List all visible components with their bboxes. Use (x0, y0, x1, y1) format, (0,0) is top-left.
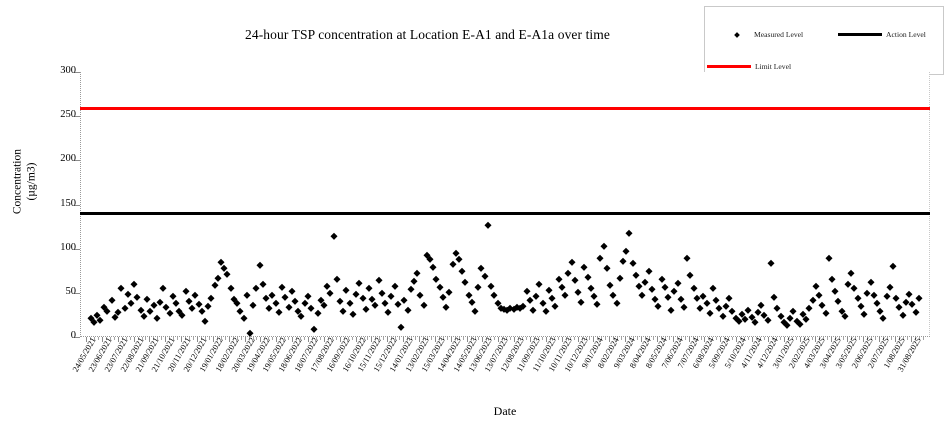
legend-label-action-level: Action Level (886, 30, 926, 39)
x-tick-minor (510, 337, 511, 340)
x-tick-minor (542, 337, 543, 340)
y-tick-label-250: 250 (16, 109, 76, 120)
x-tick-minor (209, 337, 210, 340)
x-axis-label: Date (80, 404, 930, 419)
x-tick-minor (621, 337, 622, 340)
plot-right-border (929, 72, 930, 337)
line-marker-icon-black (838, 33, 882, 36)
x-tick-minor (336, 337, 337, 340)
x-tick-minor (320, 337, 321, 340)
x-tick-minor (843, 337, 844, 340)
legend-label-limit-level: Limit Level (755, 62, 791, 71)
x-tick-minor (415, 337, 416, 340)
y-axis-line (80, 72, 81, 337)
x-tick-minor (447, 337, 448, 340)
x-tick-minor (780, 337, 781, 340)
line-marker-icon-red (707, 65, 751, 68)
y-tick-label-100: 100 (16, 242, 76, 253)
chart-legend: Measured Level Action Level Limit Level (704, 6, 944, 75)
limit-level-line (80, 107, 930, 110)
x-tick-minor (669, 337, 670, 340)
action-level-line (80, 212, 930, 215)
diamond-marker-icon (734, 32, 740, 38)
x-tick-minor (399, 337, 400, 340)
x-tick-minor (288, 337, 289, 340)
x-tick-minor (764, 337, 765, 340)
y-axis-label: Concentration (µg/m3) (11, 112, 38, 252)
x-tick-minor (193, 337, 194, 340)
legend-item-action-level[interactable]: Action Level (838, 30, 926, 39)
x-tick-minor (891, 337, 892, 340)
x-tick-minor (98, 337, 99, 340)
legend-item-limit-level[interactable]: Limit Level (707, 62, 791, 71)
x-tick-minor (859, 337, 860, 340)
plot-area: 050100150200250300 24/05/202123/06/20212… (80, 72, 930, 337)
chart-root: 24-hour TSP concentration at Location E-… (0, 0, 946, 437)
x-tick-minor (225, 337, 226, 340)
x-tick-minor (653, 337, 654, 340)
legend-label-measured-level: Measured Level (754, 30, 803, 39)
x-tick-minor (114, 337, 115, 340)
y-axis-label-line2: (µg/m3) (25, 163, 37, 201)
x-tick-minor (383, 337, 384, 340)
x-tick-minor (526, 337, 527, 340)
x-tick-minor (272, 337, 273, 340)
x-tick-minor (494, 337, 495, 340)
x-tick-minor (716, 337, 717, 340)
x-tick-minor (827, 337, 828, 340)
x-tick-minor (431, 337, 432, 340)
y-tick-label-50: 50 (16, 286, 76, 297)
x-tick-minor (177, 337, 178, 340)
x-tick-minor (875, 337, 876, 340)
x-tick-minor (637, 337, 638, 340)
x-tick-minor (558, 337, 559, 340)
y-tick-label-200: 200 (16, 153, 76, 164)
x-tick-minor (732, 337, 733, 340)
y-tick-label-0: 0 (16, 330, 76, 341)
x-tick-minor (748, 337, 749, 340)
x-tick-minor (161, 337, 162, 340)
y-tick-label-150: 150 (16, 198, 76, 209)
x-tick-minor (304, 337, 305, 340)
legend-item-measured-level[interactable]: Measured Level (735, 30, 803, 39)
y-tick-label-300: 300 (16, 65, 76, 76)
x-tick-minor (605, 337, 606, 340)
